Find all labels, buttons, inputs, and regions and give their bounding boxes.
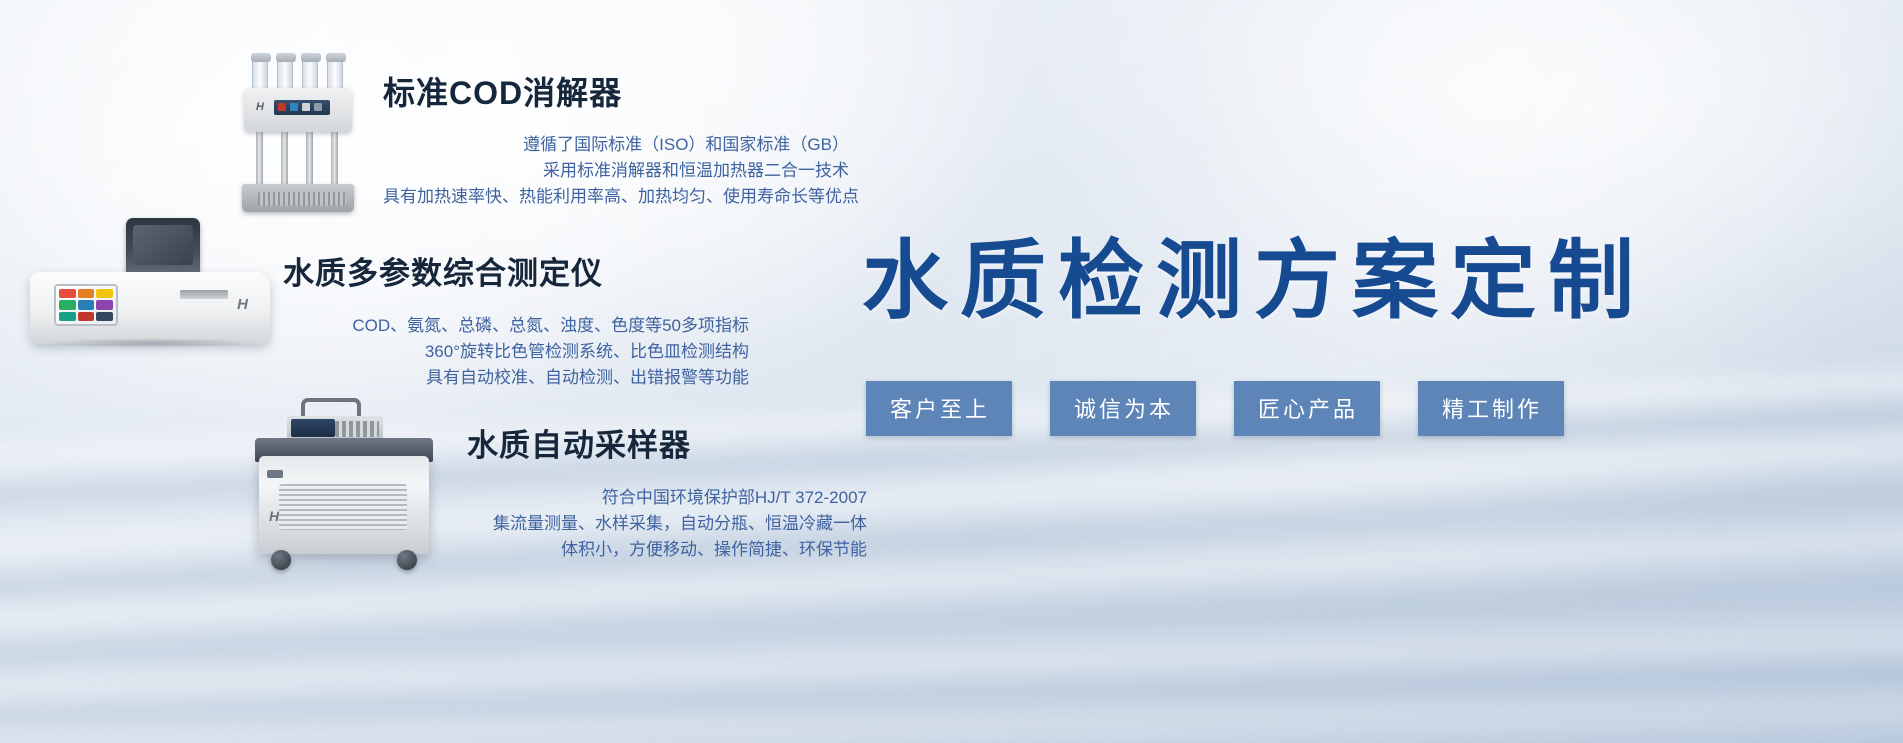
product-title: 水质自动采样器 <box>467 420 867 465</box>
digester-tube-2 <box>277 58 293 92</box>
sampler-door-latch <box>267 470 283 478</box>
background-glow-4 <box>880 120 1840 620</box>
product-description-line: 遵循了国际标准（ISO）和国家标准（GB） <box>383 132 849 158</box>
tag-item-integrity[interactable]: 诚信为本 <box>1050 381 1196 436</box>
tag-item-craftsmanship[interactable]: 匠心产品 <box>1234 381 1380 436</box>
background-dark-band-3 <box>0 562 1903 679</box>
digester-led-red <box>278 103 286 111</box>
sampler-wheel-left <box>271 550 291 570</box>
product-description-line: 集流量测量、水样采集，自动分瓶、恒温冷藏一体 <box>467 511 867 537</box>
product-block-cod-digester: 标准COD消解器 遵循了国际标准（ISO）和国家标准（GB） 采用标准消解器和恒… <box>383 68 849 210</box>
digester-tube-cap-4 <box>326 53 346 62</box>
digester-display-panel <box>274 100 330 115</box>
background-light-band-4 <box>0 605 1903 726</box>
background-glow-3 <box>1180 0 1903 420</box>
sampler-wheel-right <box>397 550 417 570</box>
background-dark-band-4 <box>0 647 1903 737</box>
digester-brand-mark: H <box>256 101 268 113</box>
analyzer-brand-mark: H <box>237 296 248 313</box>
analyzer-lid-face <box>133 225 193 265</box>
product-description: 符合中国环境保护部HJ/T 372-2007 集流量测量、水样采集，自动分瓶、恒… <box>467 485 867 563</box>
sampler-display <box>291 419 335 437</box>
product-description-line: COD、氨氮、总磷、总氮、浊度、色度等50多项指标 <box>283 313 749 339</box>
product-block-multi-parameter-analyzer: 水质多参数综合测定仪 COD、氨氮、总磷、总氮、浊度、色度等50多项指标 360… <box>283 248 749 391</box>
digester-head-unit: H <box>244 88 352 132</box>
digester-tube-1 <box>252 58 268 92</box>
sampler-vent-grille <box>279 484 407 530</box>
digester-tube-3 <box>302 58 318 92</box>
sampler-keypad[interactable] <box>335 421 379 437</box>
product-description-line: 360°旋转比色管检测系统、比色皿检测结构 <box>283 339 749 365</box>
product-description-line: 具有加热速率快、热能利用率高、加热均匀、使用寿命长等优点 <box>383 184 849 210</box>
banner-root: H H H <box>0 0 1903 743</box>
digester-base-vents <box>258 192 346 206</box>
digester-tube-cap-3 <box>301 53 321 62</box>
multi-parameter-analyzer-photo: H <box>30 218 270 348</box>
tag-item-fine-workmanship[interactable]: 精工制作 <box>1418 381 1564 436</box>
product-description: 遵循了国际标准（ISO）和国家标准（GB） 采用标准消解器和恒温加热器二合一技术… <box>383 132 849 210</box>
analyzer-cuvette-slot <box>180 290 228 299</box>
main-headline: 水质检测方案定制 <box>862 236 1872 326</box>
product-title: 水质多参数综合测定仪 <box>283 248 749 293</box>
cod-digester-photo: H <box>238 52 358 212</box>
digester-base <box>242 184 354 212</box>
product-description: COD、氨氮、总磷、总氮、浊度、色度等50多项指标 360°旋转比色管检测系统、… <box>283 313 749 391</box>
background-wave-3 <box>0 0 264 209</box>
tag-list: 客户至上 诚信为本 匠心产品 精工制作 <box>866 381 1564 436</box>
digester-led-grey <box>302 103 310 111</box>
digester-led-dim <box>314 103 322 111</box>
sampler-brand-mark: H <box>269 508 279 524</box>
digester-tube-cap-2 <box>276 53 296 62</box>
product-description-line: 具有自动校准、自动检测、出错报警等功能 <box>283 365 749 391</box>
product-title: 标准COD消解器 <box>383 68 849 114</box>
auto-water-sampler-photo: H <box>245 398 450 578</box>
analyzer-touch-screen[interactable] <box>54 284 118 326</box>
tag-item-customer-first[interactable]: 客户至上 <box>866 381 1012 436</box>
digester-tube-cap-1 <box>251 53 271 62</box>
product-description-line: 采用标准消解器和恒温加热器二合一技术 <box>383 158 849 184</box>
product-block-auto-water-sampler: 水质自动采样器 符合中国环境保护部HJ/T 372-2007 集流量测量、水样采… <box>467 420 867 563</box>
background-light-band-5 <box>0 681 1903 743</box>
product-description-line: 符合中国环境保护部HJ/T 372-2007 <box>467 485 867 511</box>
digester-led-blue <box>290 103 298 111</box>
analyzer-lid <box>126 218 200 280</box>
analyzer-drop-shadow <box>40 338 262 348</box>
product-description-line: 体积小，方便移动、操作简捷、环保节能 <box>467 537 867 563</box>
digester-tube-4 <box>327 58 343 92</box>
